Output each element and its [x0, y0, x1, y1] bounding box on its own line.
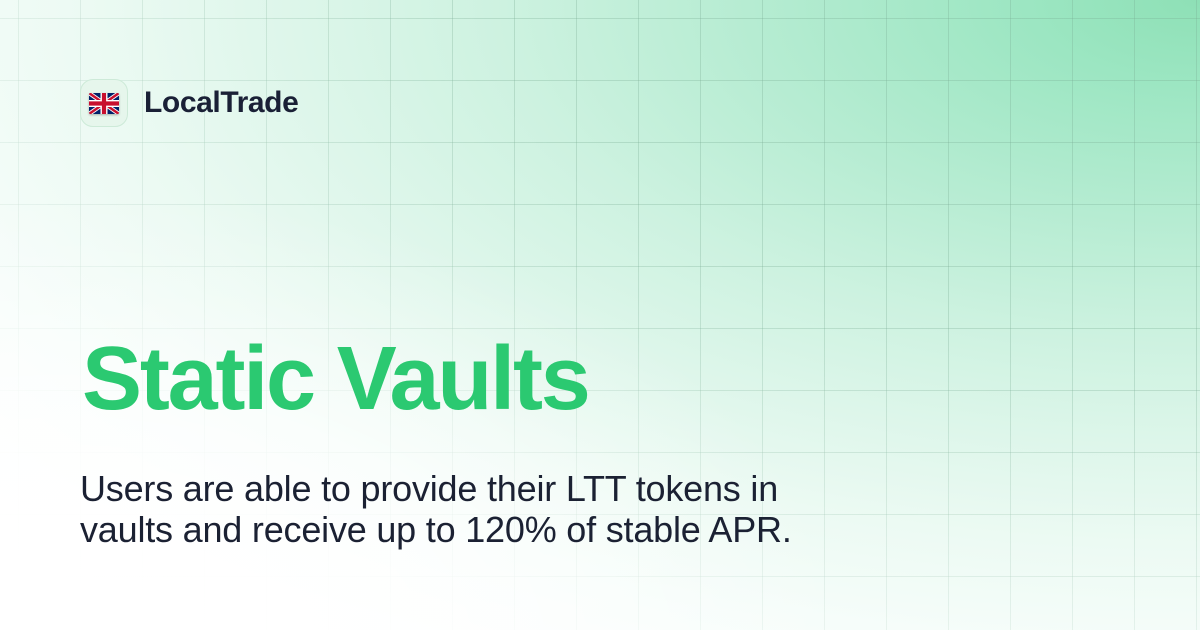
subtitle-line-1: Users are able to provide their LTT toke… — [80, 468, 860, 509]
uk-flag-icon — [89, 93, 119, 114]
brand-header[interactable]: LocalTrade — [80, 79, 298, 127]
subtitle-line-2: vaults and receive up to 120% of stable … — [80, 509, 860, 550]
social-share-card: LocalTrade Static Vaults Users are able … — [0, 0, 1200, 630]
card-content: LocalTrade Static Vaults Users are able … — [0, 0, 1200, 630]
page-title: Static Vaults — [82, 334, 589, 424]
brand-name: LocalTrade — [144, 88, 298, 118]
page-subtitle: Users are able to provide their LTT toke… — [80, 468, 860, 550]
brand-logo-badge — [80, 79, 128, 127]
